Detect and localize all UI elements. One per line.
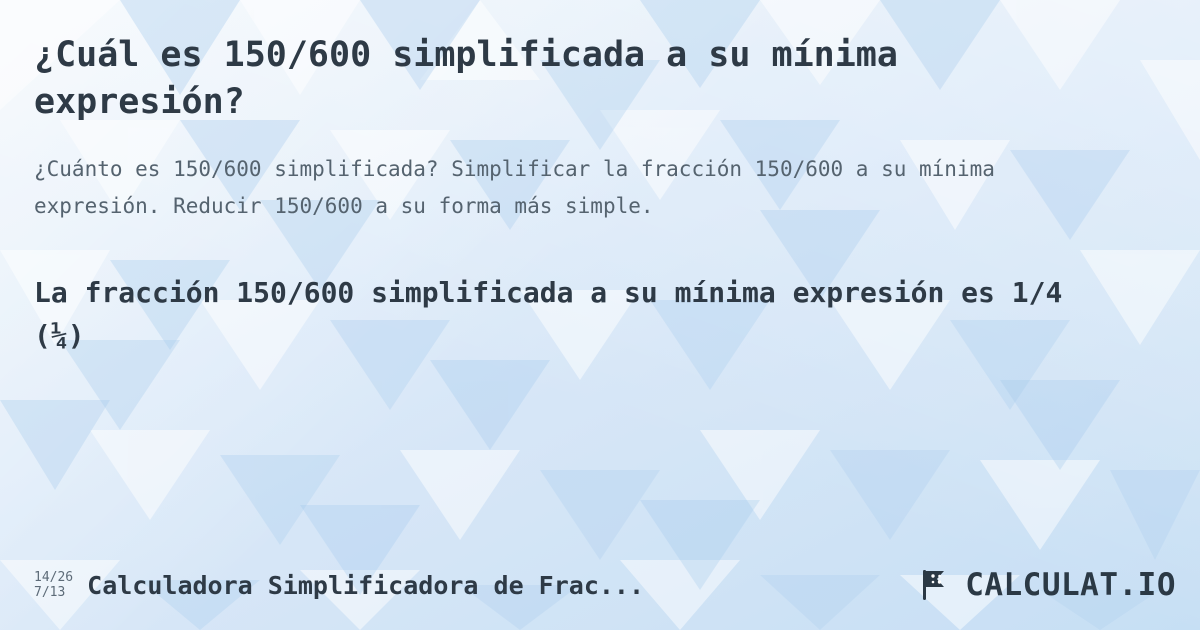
fraction-badge-numerator: 14/26 [34,570,73,585]
og-image-card: ¿Cuál es 150/600 simplificada a su mínim… [0,0,1200,630]
fraction-badge-denominator: 7/13 [34,585,73,600]
page-title: ¿Cuál es 150/600 simplificada a su mínim… [34,32,1094,125]
brand-name: CALCULAT.IO [965,567,1176,603]
fraction-badge-icon: 14/26 7/13 [34,570,73,601]
brand-lockup[interactable]: CALCULAT.IO [920,567,1176,603]
footer-section-title: Calculadora Simplificadora de Frac... [87,571,644,600]
calculator-flag-icon [920,568,956,602]
card-footer: 14/26 7/13 Calculadora Simplificadora de… [0,540,1200,630]
card-content: ¿Cuál es 150/600 simplificada a su mínim… [0,0,1200,357]
page-description: ¿Cuánto es 150/600 simplificada? Simplif… [34,151,1124,225]
answer-statement: La fracción 150/600 simplificada a su mí… [34,271,1109,358]
